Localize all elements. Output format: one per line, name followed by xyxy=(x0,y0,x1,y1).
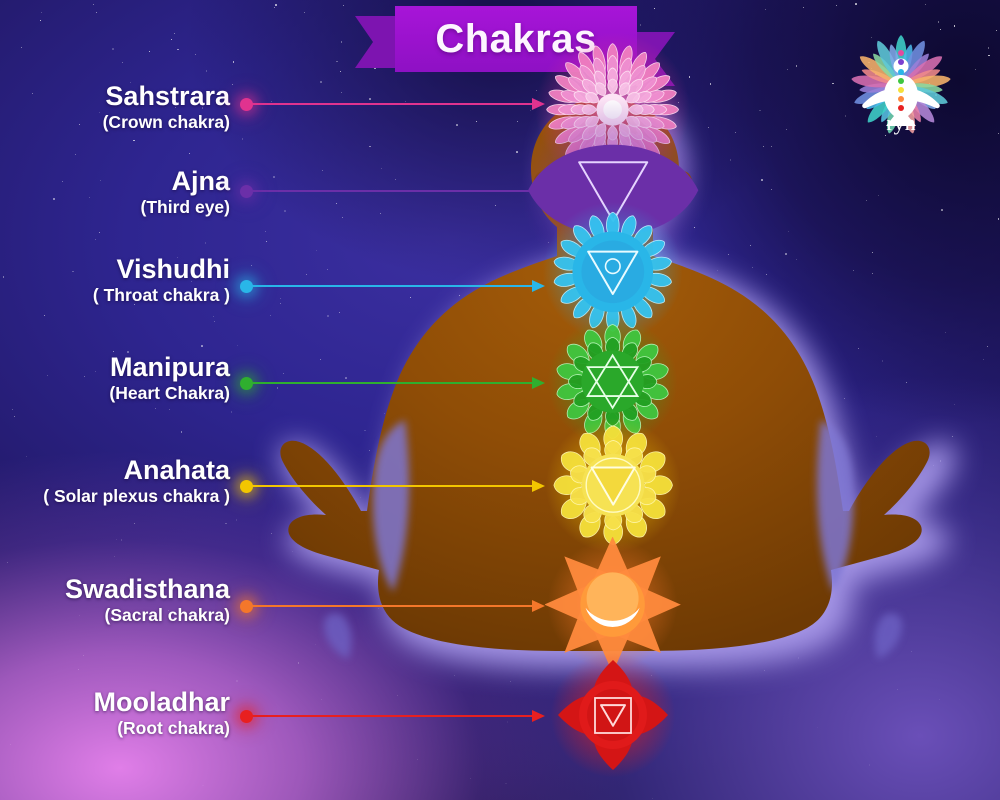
chakra-symbol-mooladhar[interactable] xyxy=(548,650,678,785)
connector-line-anahata xyxy=(252,485,533,487)
connector-dot-sahstrara[interactable] xyxy=(240,98,253,111)
chakra-name-swadisthana: Swadisthana xyxy=(65,575,230,603)
chakra-subtitle-manipura: (Heart Chakra) xyxy=(109,383,230,405)
chakra-label-sahstrara: Sahstrara(Crown chakra) xyxy=(103,82,230,134)
chakra-label-swadisthana: Swadisthana(Sacral chakra) xyxy=(65,575,230,627)
connector-line-swadisthana xyxy=(252,605,533,607)
chakra-label-ajna: Ajna(Third eye) xyxy=(141,167,230,219)
connector-line-mooladhar xyxy=(252,715,533,717)
chakra-subtitle-sahstrara: (Crown chakra) xyxy=(103,112,230,134)
chakra-subtitle-ajna: (Third eye) xyxy=(141,197,230,219)
chakra-label-anahata: Anahata( Solar plexus chakra ) xyxy=(43,456,230,508)
chakra-subtitle-swadisthana: (Sacral chakra) xyxy=(65,605,230,627)
connector-dot-anahata[interactable] xyxy=(240,480,253,493)
chakra-name-vishudhi: Vishudhi xyxy=(93,255,230,283)
chakra-subtitle-vishudhi: ( Throat chakra ) xyxy=(93,285,230,307)
connector-dot-vishudhi[interactable] xyxy=(240,280,253,293)
chakra-connector-vishudhi xyxy=(242,285,545,287)
chakra-subtitle-mooladhar: (Root chakra) xyxy=(93,718,230,740)
chakra-connector-anahata xyxy=(242,485,545,487)
chakra-connector-swadisthana xyxy=(242,605,545,607)
chakra-name-ajna: Ajna xyxy=(141,167,230,195)
chakra-name-anahata: Anahata xyxy=(43,456,230,484)
connector-line-vishudhi xyxy=(252,285,533,287)
logo-wordmark: ryn xyxy=(886,110,915,135)
connector-arrowhead-swadisthana xyxy=(532,600,545,612)
chakra-label-manipura: Manipura(Heart Chakra) xyxy=(109,353,230,405)
chakra-name-manipura: Manipura xyxy=(109,353,230,381)
chakra-connector-manipura xyxy=(242,382,545,384)
chakra-connector-ajna xyxy=(242,190,545,192)
chakra-label-mooladhar: Mooladhar(Root chakra) xyxy=(93,688,230,740)
ryn-lotus-logo[interactable]: ryn xyxy=(838,22,964,142)
connector-dot-mooladhar[interactable] xyxy=(240,710,253,723)
chakra-connector-mooladhar xyxy=(242,715,545,717)
chakra-name-sahstrara: Sahstrara xyxy=(103,82,230,110)
connector-line-manipura xyxy=(252,382,533,384)
chakra-label-vishudhi: Vishudhi( Throat chakra ) xyxy=(93,255,230,307)
connector-dot-swadisthana[interactable] xyxy=(240,600,253,613)
connector-dot-manipura[interactable] xyxy=(240,377,253,390)
chakra-subtitle-anahata: ( Solar plexus chakra ) xyxy=(43,486,230,508)
connector-dot-ajna[interactable] xyxy=(240,185,253,198)
connector-arrowhead-manipura xyxy=(532,377,545,389)
connector-line-sahstrara xyxy=(252,103,533,105)
connector-arrowhead-mooladhar xyxy=(532,710,545,722)
connector-line-ajna xyxy=(252,190,533,192)
chakras-infographic: Chakras ryn Sahstrara(Crown chakra)Ajna( xyxy=(0,0,1000,800)
chakra-connector-sahstrara xyxy=(242,103,545,105)
chakra-name-mooladhar: Mooladhar xyxy=(93,688,230,716)
